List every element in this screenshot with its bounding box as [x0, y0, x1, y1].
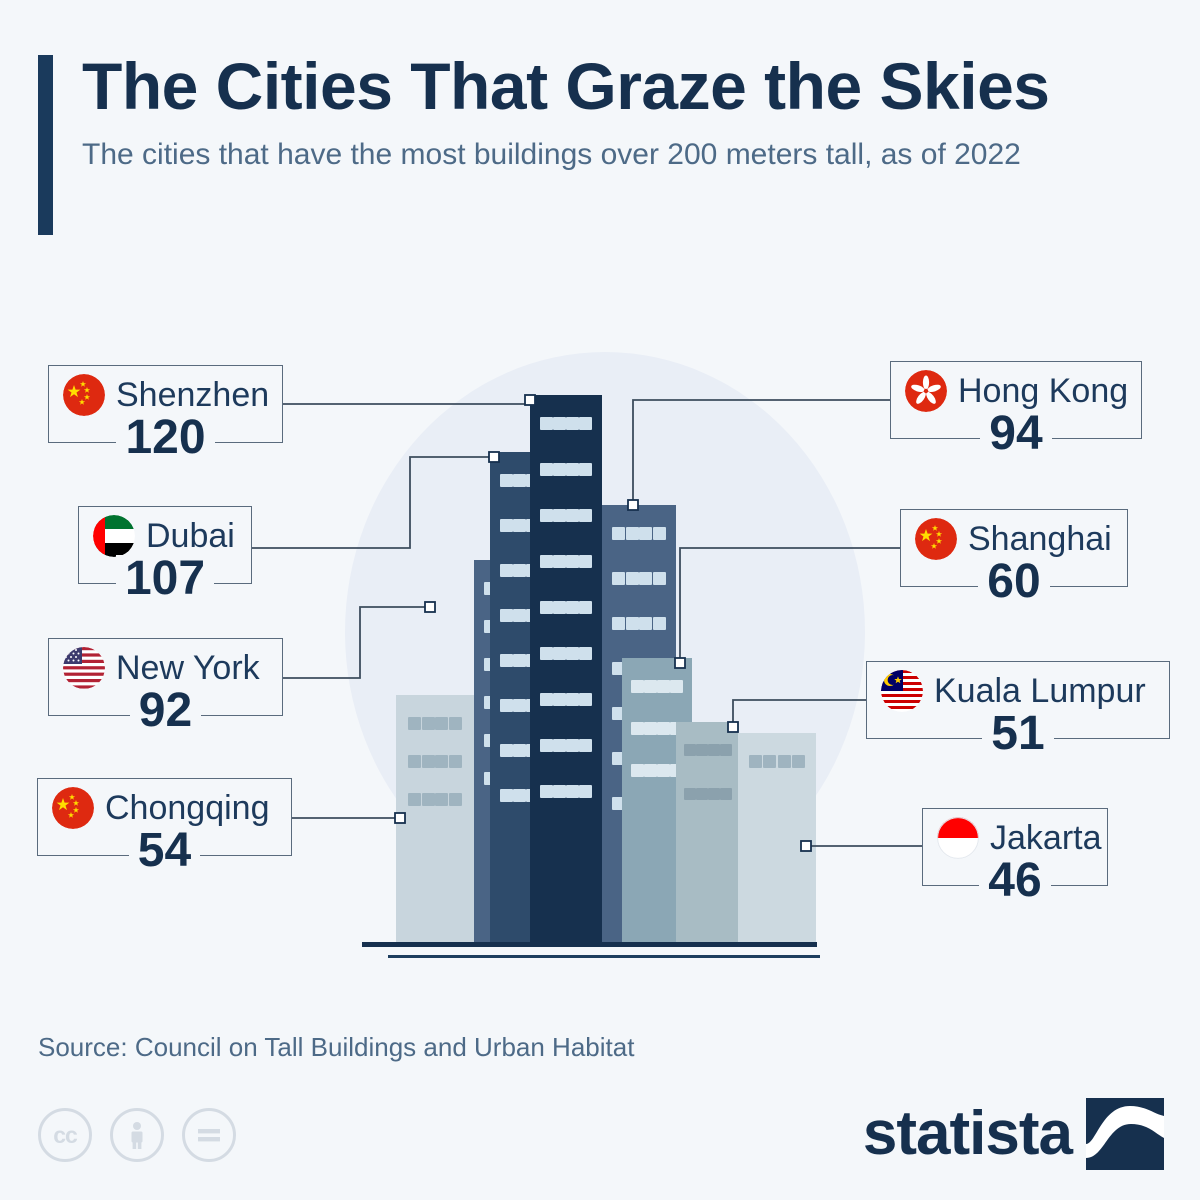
connector-newyork	[283, 607, 430, 678]
anchor-dubai	[489, 452, 499, 462]
label-card-shanghai[interactable]: Shanghai 60	[900, 509, 1128, 587]
license-icons: cc	[38, 1108, 236, 1162]
connector-kualalumpur	[733, 700, 866, 727]
connector-lines	[0, 0, 1200, 1200]
city-name: Jakarta	[990, 821, 1102, 855]
ae-flag-icon	[93, 515, 135, 557]
id-flag-icon	[937, 817, 979, 859]
label-card-jakarta[interactable]: Jakarta 46	[922, 808, 1108, 886]
label-card-kualalumpur[interactable]: Kuala Lumpur 51	[866, 661, 1170, 739]
label-card-hongkong[interactable]: Hong Kong 94	[890, 361, 1142, 439]
infographic-stage: Shenzhen 120 Dubai 107	[0, 0, 1200, 1200]
statista-wordmark: statista	[863, 1103, 1072, 1165]
cn-flag-icon	[915, 518, 957, 560]
anchor-kualalumpur	[728, 722, 738, 732]
hk-flag-icon	[905, 370, 947, 412]
city-name: Shenzhen	[116, 378, 269, 412]
connector-hongkong	[633, 400, 890, 505]
connector-dubai	[252, 457, 494, 548]
label-card-shenzhen[interactable]: Shenzhen 120	[48, 365, 283, 443]
person-glyph	[124, 1120, 150, 1150]
label-card-newyork[interactable]: New York 92	[48, 638, 283, 716]
city-name: Dubai	[146, 519, 235, 553]
anchor-jakarta	[801, 841, 811, 851]
cn-flag-icon	[52, 787, 94, 829]
cn-flag-icon	[63, 374, 105, 416]
anchor-shenzhen	[525, 395, 535, 405]
city-name: Kuala Lumpur	[934, 674, 1146, 708]
city-name: Shanghai	[968, 522, 1112, 556]
by-icon[interactable]	[110, 1108, 164, 1162]
anchor-hongkong	[628, 500, 638, 510]
equals-glyph	[195, 1125, 223, 1145]
statista-mark-icon	[1086, 1098, 1164, 1170]
city-name: New York	[116, 651, 260, 685]
city-name: Hong Kong	[958, 374, 1128, 408]
cc-label: cc	[53, 1122, 77, 1149]
anchor-shanghai	[675, 658, 685, 668]
connector-shanghai	[680, 548, 900, 663]
statista-logo: statista	[863, 1098, 1164, 1170]
city-name: Chongqing	[105, 791, 269, 825]
anchor-newyork	[425, 602, 435, 612]
nd-icon[interactable]	[182, 1108, 236, 1162]
label-card-dubai[interactable]: Dubai 107	[78, 506, 252, 584]
us-flag-icon	[63, 647, 105, 689]
my-flag-icon	[881, 670, 923, 712]
anchor-chongqing	[395, 813, 405, 823]
source-text: Source: Council on Tall Buildings and Ur…	[38, 1032, 634, 1063]
cc-icon[interactable]: cc	[38, 1108, 92, 1162]
label-card-chongqing[interactable]: Chongqing 54	[37, 778, 292, 856]
